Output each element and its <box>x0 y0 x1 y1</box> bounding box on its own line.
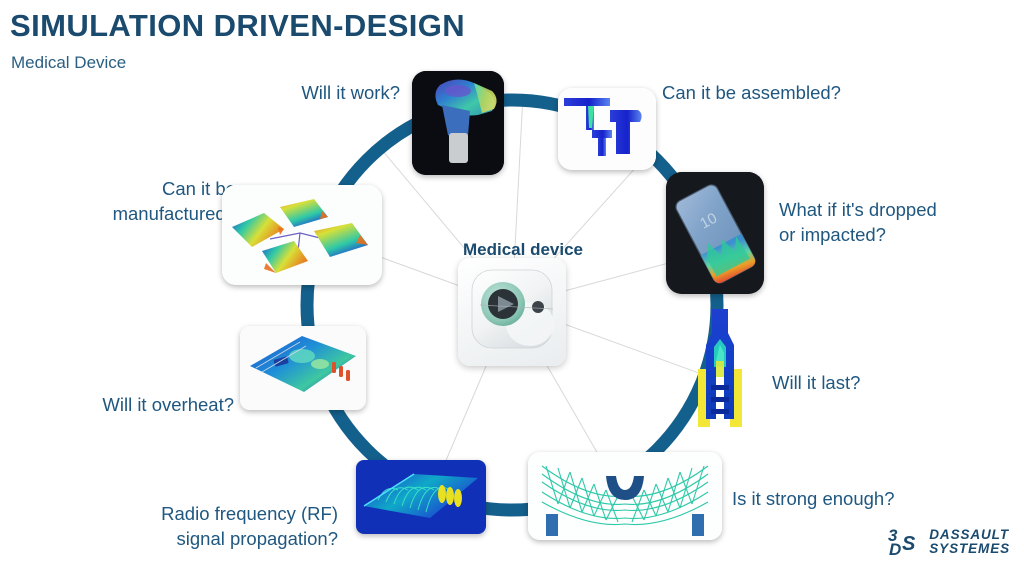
thumb-phone-drop-test[interactable]: 10 <box>666 172 764 294</box>
brand-logo-text: DASSAULT SYSTEMES <box>929 528 1010 556</box>
center-device-card <box>458 258 566 366</box>
thumb-injection-molding-fea[interactable] <box>222 185 382 285</box>
thumb-stent-mesh-structure[interactable] <box>528 452 722 540</box>
thumb-pcb-thermal-fea[interactable] <box>240 326 366 410</box>
label-will-it-work: Will it work? <box>200 80 400 105</box>
label-what-if-dropped: What if it's dropped or impacted? <box>779 197 1009 247</box>
brand-logo-line2: SYSTEMES <box>929 542 1010 556</box>
label-can-it-be-assembled: Can it be assembled? <box>662 80 922 105</box>
thumb-rf-antenna-emag[interactable] <box>356 460 486 534</box>
label-will-it-overheat: Will it overheat? <box>58 392 234 417</box>
3ds-monogram-icon: 3 D S <box>888 525 922 559</box>
label-can-it-be-manufactured: Can it be manufactured? <box>48 176 236 226</box>
center-label: Medical device <box>443 240 603 260</box>
thumb-dental-implant-fea[interactable] <box>412 71 504 175</box>
thumb-fatigue-durability-fea[interactable] <box>694 307 746 433</box>
assembly-t-joint-fea-icon <box>558 88 656 170</box>
dental-implant-fea-icon <box>412 71 504 175</box>
brand-logo: 3 D S DASSAULT SYSTEMES <box>888 525 1010 559</box>
stent-mesh-structure-icon <box>528 452 722 540</box>
label-is-it-strong-enough: Is it strong enough? <box>732 486 972 511</box>
svg-text:D: D <box>889 540 901 559</box>
fatigue-durability-fea-icon <box>694 307 746 433</box>
medical-device-render <box>458 258 566 366</box>
label-rf-signal-propagation: Radio frequency (RF) signal propagation? <box>98 501 338 551</box>
brand-logo-line1: DASSAULT <box>929 528 1010 542</box>
label-will-it-last: Will it last? <box>772 370 952 395</box>
svg-text:S: S <box>902 533 916 555</box>
rf-antenna-emag-icon <box>356 460 486 534</box>
phone-drop-test-icon: 10 <box>666 172 764 294</box>
injection-molding-fea-icon <box>222 185 382 285</box>
thumb-assembly-t-joint-fea[interactable] <box>558 88 656 170</box>
pcb-thermal-fea-icon <box>240 326 366 410</box>
